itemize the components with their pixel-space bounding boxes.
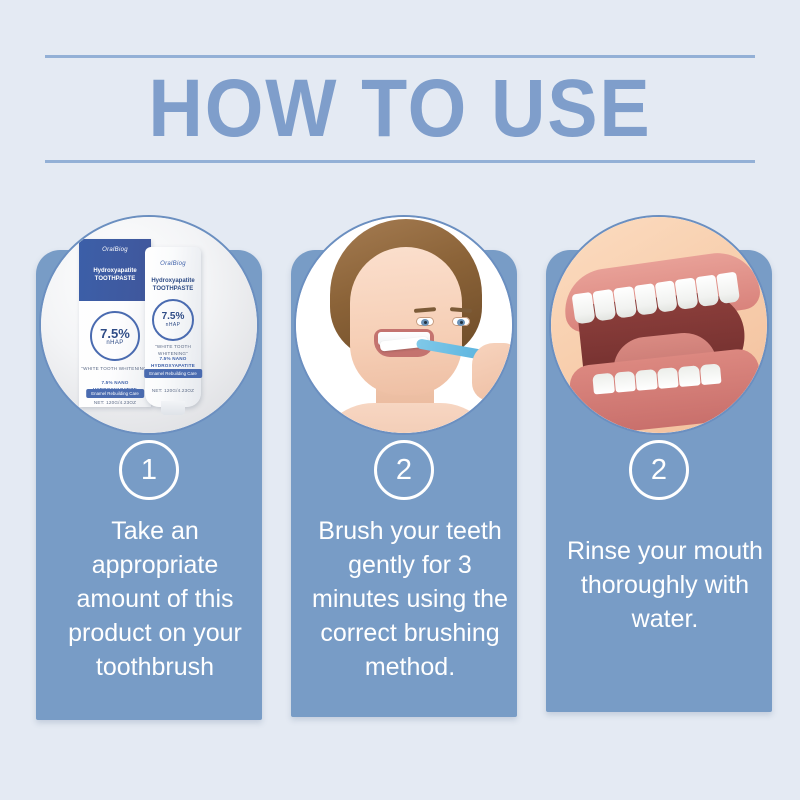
step-1-photo-inner: OralBiog Hydroxyapatite TOOTHPASTE 7.5% … (41, 217, 257, 433)
hap-badge-tube: 7.5% nHAP (152, 299, 194, 341)
step-2-number-badge: 2 (374, 440, 434, 500)
product-name-tube: Hydroxyapatite TOOTHPASTE (145, 277, 201, 293)
step-1-number-badge: 1 (119, 440, 179, 500)
face-shape (350, 247, 462, 395)
toothpaste-box-icon: OralBiog Hydroxyapatite TOOTHPASTE 7.5% … (79, 239, 151, 407)
spec-line-1-box: 7.5% NANO (101, 380, 128, 385)
tooth (699, 363, 721, 385)
hap-percent-box: % (118, 326, 130, 341)
step-3-number-badge: 2 (629, 440, 689, 500)
step-3-photo-inner (551, 217, 767, 433)
step-1-caption: Take an appropriate amount of this produ… (42, 514, 268, 684)
spec-line-2-tube: HYDROXYAPATITE (151, 363, 195, 368)
eyebrow-right (450, 307, 472, 313)
hap-value-box: 7.5 (100, 326, 118, 341)
hap-badge-box: 7.5% nHAP (90, 311, 140, 361)
hap-badge-sub-tube: nHAP (166, 322, 181, 328)
product-pill-tube: Enamel Rebuilding Care (144, 369, 202, 378)
step-card-2: 2 Brush your teeth gently for 3 minutes … (285, 215, 523, 735)
tooth (716, 272, 740, 304)
step-3-caption: Rinse your mouth thoroughly with water. (552, 534, 778, 636)
tooth (696, 275, 720, 307)
title-rule-top (45, 55, 755, 58)
hap-percent-tube: % (176, 311, 185, 322)
hap-badge-number-tube: 7.5% (162, 312, 185, 322)
product-pill-box: Enamel Rebuilding Care (86, 389, 144, 398)
step-1-photo: OralBiog Hydroxyapatite TOOTHPASTE 7.5% … (39, 215, 259, 435)
tooth (572, 292, 596, 324)
how-to-use-infographic: HOW TO USE 1 Take an appropriate amount … (0, 0, 800, 800)
tooth (657, 367, 679, 389)
page-title-block: HOW TO USE (45, 55, 755, 170)
toothpaste-tube-cap (161, 401, 185, 415)
tooth (592, 289, 616, 321)
product-line-1-box: Hydroxyapatite (93, 268, 136, 274)
hand-shape (472, 343, 512, 401)
product-brand-tube: OralBiog (145, 261, 201, 267)
iris-left (421, 319, 429, 326)
hap-badge-sub-box: nHAP (106, 340, 123, 346)
product-net-weight-box: NET: 120G/4.23OZ (79, 399, 151, 406)
step-card-3: 2 Rinse your mouth thoroughly with water… (540, 215, 778, 735)
tooth (654, 280, 678, 312)
hap-badge-number-box: 7.5% (100, 327, 130, 340)
product-brand-box: OralBiog (79, 247, 151, 253)
toothpaste-box-header: OralBiog Hydroxyapatite TOOTHPASTE (79, 239, 151, 301)
title-rule-bottom (45, 160, 755, 163)
product-spec-tube: 7.5% NANO HYDROXYAPATITE (145, 355, 201, 369)
step-2-caption: Brush your teeth gently for 3 minutes us… (297, 514, 523, 684)
page-title: HOW TO USE (73, 60, 726, 158)
product-tagline-box: "WHITE TOOTH WHITENING" (79, 365, 151, 372)
toothpaste-tube-icon: OralBiog Hydroxyapatite TOOTHPASTE 7.5% … (145, 247, 201, 407)
iris-right (457, 319, 465, 326)
tooth (634, 283, 658, 315)
tooth (592, 373, 614, 395)
tooth (635, 369, 657, 391)
step-2-photo (294, 215, 514, 435)
product-line-1-tube: Hydroxyapatite (151, 278, 194, 284)
hap-value-tube: 7.5 (162, 311, 176, 322)
eyebrow-left (414, 307, 436, 313)
product-name-box: Hydroxyapatite TOOTHPASTE (79, 267, 151, 283)
step-card-1: 1 Take an appropriate amount of this pro… (30, 215, 268, 735)
product-line-2-box: TOOTHPASTE (95, 276, 135, 282)
steps-row: 1 Take an appropriate amount of this pro… (0, 215, 800, 745)
product-line-2-tube: TOOTHPASTE (153, 286, 193, 292)
tooth (675, 277, 699, 309)
tooth (678, 365, 700, 387)
step-3-photo (549, 215, 769, 435)
product-net-weight-tube: NET: 120G/4.23OZ (145, 387, 201, 394)
tooth (614, 371, 636, 393)
eye-right (452, 317, 470, 326)
step-2-photo-inner (296, 217, 512, 433)
tooth (613, 286, 637, 318)
eye-left (416, 317, 434, 326)
spec-line-1-tube: 7.5% NANO (159, 356, 186, 361)
